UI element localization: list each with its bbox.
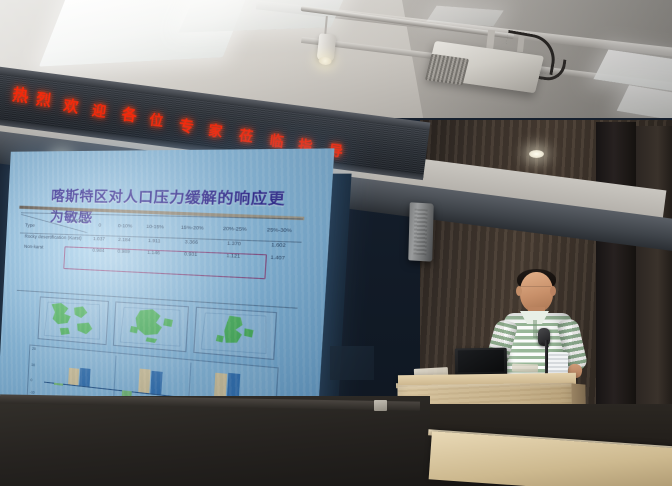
- lecture-hall-photo: 热 烈 欢 迎 各 位 专 家 莅 临 指 导 喀斯特区对人口压力缓解的响应更为…: [0, 0, 672, 486]
- led-char: 专: [178, 114, 196, 137]
- led-char: 热: [11, 81, 30, 107]
- led-char: 迎: [91, 100, 107, 122]
- led-char: 烈: [35, 88, 53, 111]
- led-char: 家: [207, 120, 223, 142]
- led-char: 各: [121, 103, 139, 126]
- wall-mounted-speaker: [408, 202, 433, 261]
- presenter-shirt-placket: [533, 320, 537, 338]
- downlight: [529, 150, 544, 158]
- wall-recess: [330, 346, 374, 380]
- led-char: 欢: [62, 94, 80, 117]
- led-char: 位: [148, 110, 164, 132]
- desk-monitor: [455, 348, 507, 377]
- presenter-eyes: [521, 286, 551, 294]
- wall-socket: [374, 400, 387, 411]
- led-char: 莅: [238, 125, 254, 147]
- papers-on-desk: [512, 364, 538, 373]
